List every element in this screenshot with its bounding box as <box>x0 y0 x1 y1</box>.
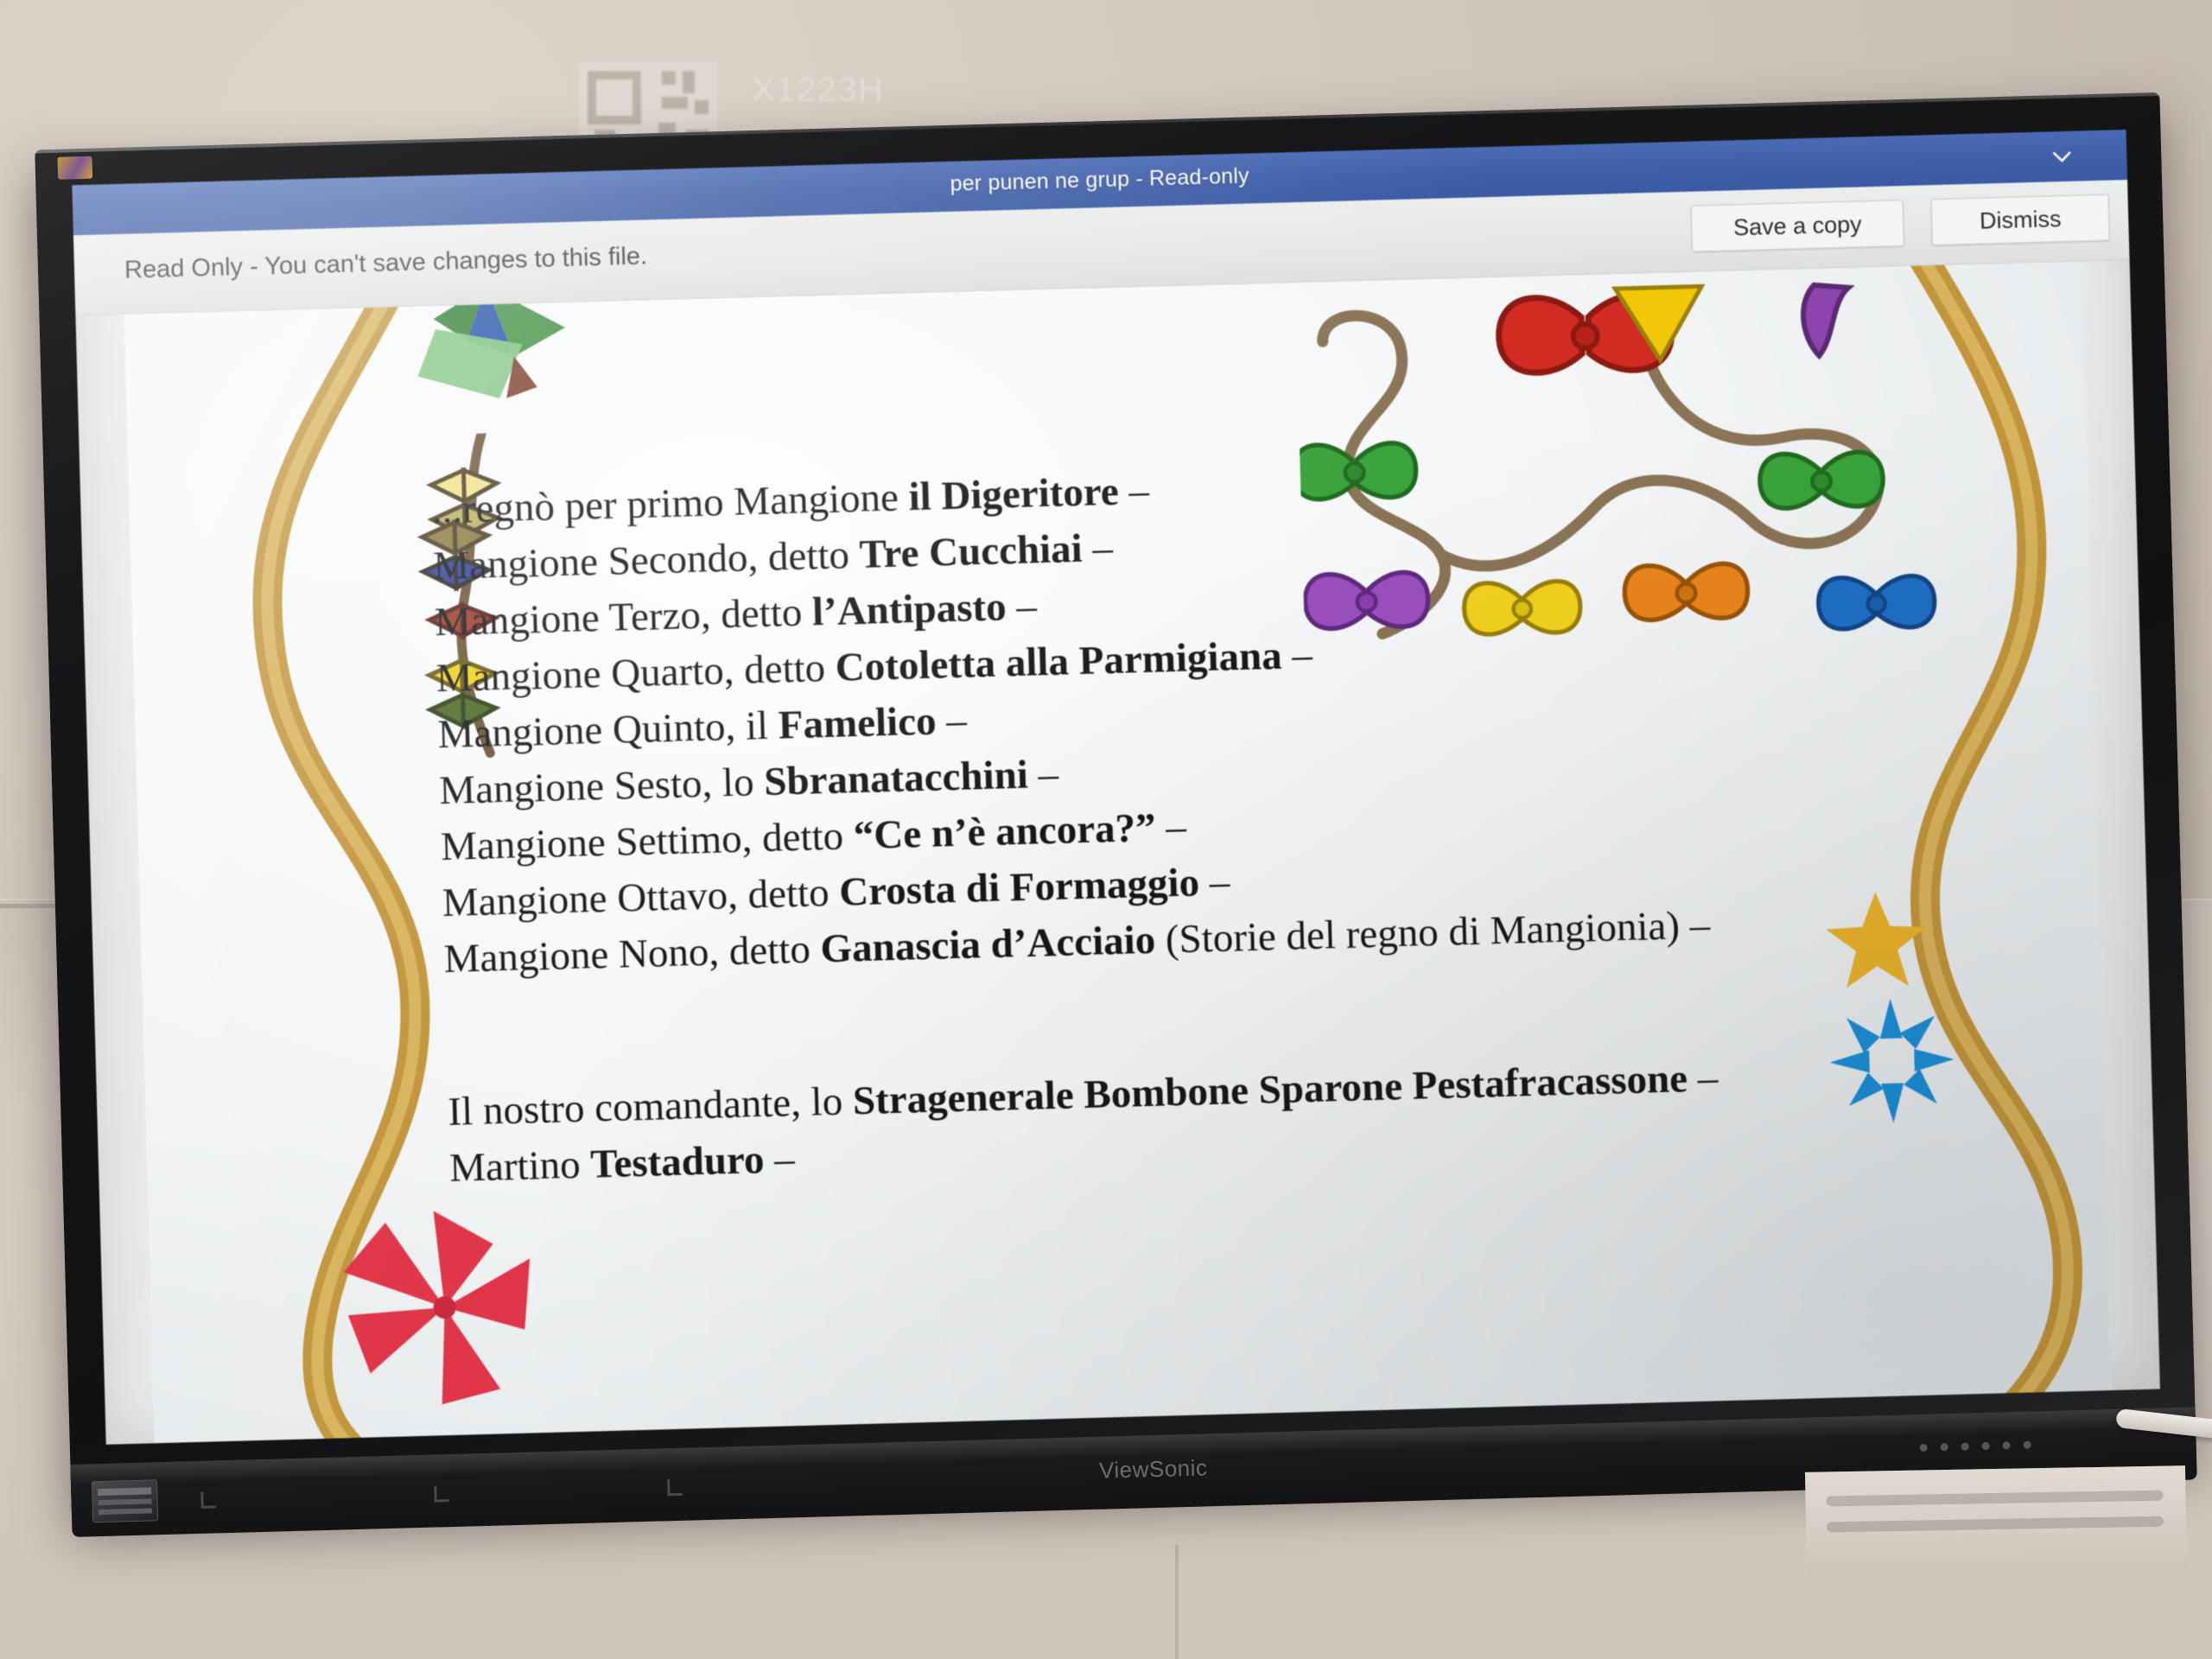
mount-bracket-right <box>667 1479 683 1496</box>
wall-cable-tray <box>1805 1465 2187 1578</box>
display-bezel: per punen ne grup - Read-only Read Only … <box>35 92 2196 1515</box>
readonly-message: Read Only - You can't save changes to th… <box>124 242 648 284</box>
bezel-sticker <box>57 156 92 180</box>
mount-bracket-left <box>200 1491 216 1508</box>
save-a-copy-button[interactable]: Save a copy <box>1691 200 1904 252</box>
document-body-text: ...regnò per primo Mangione il Digeritor… <box>431 439 2057 1197</box>
chevron-down-icon[interactable] <box>2050 146 2074 169</box>
ir-sensor-array <box>1920 1441 2031 1452</box>
energy-label <box>92 1479 158 1522</box>
document-page: ...regnò per primo Mangione il Digeritor… <box>124 261 2112 1444</box>
wall-vertical-seam <box>1175 1545 1179 1659</box>
display-screen: per punen ne grup - Read-only Read Only … <box>72 130 2160 1445</box>
interactive-display: per punen ne grup - Read-only Read Only … <box>16 76 2212 1586</box>
dismiss-button[interactable]: Dismiss <box>1931 194 2110 246</box>
brand-logo: ViewSonic <box>1099 1454 1208 1484</box>
pinwheel-icon <box>303 1174 587 1441</box>
mount-bracket-mid <box>434 1485 449 1502</box>
